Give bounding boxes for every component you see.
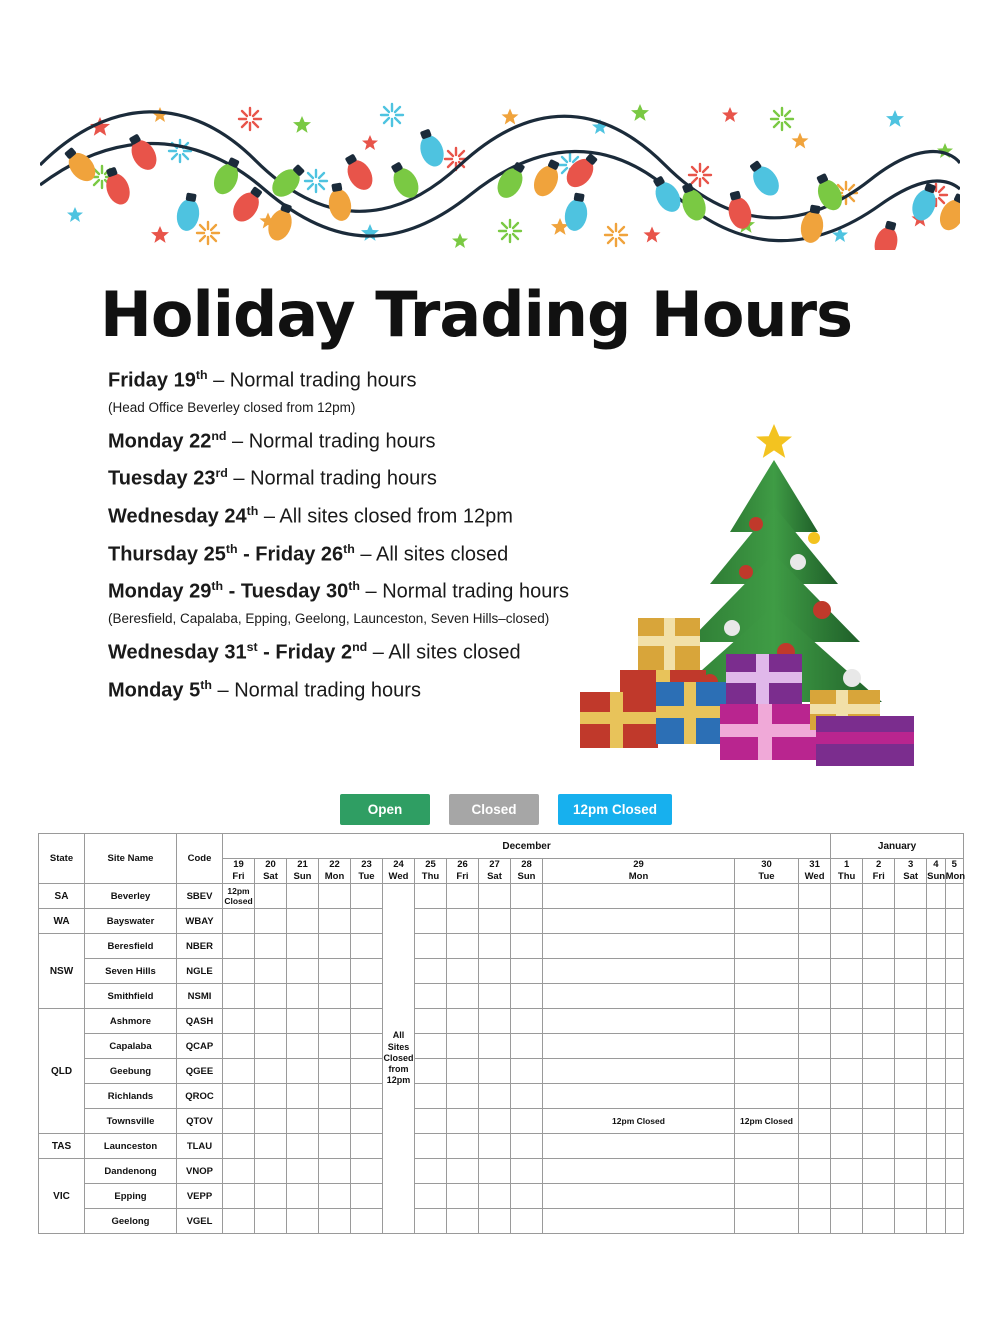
status-cell-closed: [415, 959, 447, 984]
status-cell-closed: [927, 909, 945, 934]
day-header-26-fri: 26Fri: [447, 859, 479, 884]
status-cell-closed: [255, 934, 287, 959]
day-header-31-wed: 31Wed: [799, 859, 831, 884]
status-cell-open: [351, 1109, 383, 1134]
day-header-23-tue: 23Tue: [351, 859, 383, 884]
status-cell-closed: [415, 1159, 447, 1184]
status-cell-closed: [479, 934, 511, 959]
status-cell-closed: [863, 1134, 895, 1159]
status-cell-closed: [895, 959, 927, 984]
status-cell-closed: [479, 984, 511, 1009]
notice-rest: – Normal trading hours: [208, 370, 417, 392]
legend-open: Open: [340, 794, 430, 825]
notice-sup-2: th: [348, 579, 360, 593]
status-cell-closed: [799, 1134, 831, 1159]
status-cell-open: [223, 934, 255, 959]
status-cell-closed: [927, 934, 945, 959]
legend-closed: Closed: [449, 794, 539, 825]
status-cell-closed: [479, 1034, 511, 1059]
site-name-cell: Beresfield: [85, 934, 177, 959]
day-weekday: Fri: [863, 871, 894, 883]
status-cell-closed: [927, 1009, 945, 1034]
status-cell-closed: [543, 1209, 735, 1234]
status-cell-open: [945, 934, 963, 959]
table-row: TownsvilleQTOV12pm Closed12pm Closed: [39, 1109, 964, 1134]
status-cell-open: [351, 1059, 383, 1084]
notice-sup: th: [247, 504, 259, 518]
day-number: 3: [895, 859, 926, 871]
day-number: 4: [927, 859, 944, 871]
status-cell-closed: [927, 1109, 945, 1134]
site-code-cell: VGEL: [177, 1209, 223, 1234]
day-weekday: Sat: [479, 871, 510, 883]
status-cell-closed: [415, 909, 447, 934]
status-cell-closed: [863, 1109, 895, 1134]
state-cell-wa: WA: [39, 909, 85, 934]
status-cell-closed: [287, 1134, 319, 1159]
notice-rest: – All sites closed: [367, 642, 520, 664]
status-cell-closed: [799, 1209, 831, 1234]
notice-bold: Monday 22: [108, 430, 211, 452]
status-cell-closed: [927, 984, 945, 1009]
status-cell-closed: [255, 1059, 287, 1084]
status-cell-closed: [287, 1109, 319, 1134]
status-cell-closed: [799, 1084, 831, 1109]
site-name-cell: Seven Hills: [85, 959, 177, 984]
status-cell-closed: [863, 1159, 895, 1184]
site-code-cell: SBEV: [177, 884, 223, 909]
status-cell-closed: [863, 934, 895, 959]
notice-sup: th: [226, 542, 238, 556]
status-cell-closed: [927, 1209, 945, 1234]
day-weekday: Sat: [255, 871, 286, 883]
status-cell-open: [351, 1134, 383, 1159]
status-cell-closed: [895, 1109, 927, 1134]
day-header-22-mon: 22Mon: [319, 859, 351, 884]
notice-sup: th: [196, 368, 208, 382]
day-number: 29: [543, 859, 734, 871]
status-cell-closed: [287, 1034, 319, 1059]
notice-bold: Monday 5: [108, 679, 200, 701]
status-cell-closed: [447, 1134, 479, 1159]
status-cell-closed: [255, 959, 287, 984]
status-cell-closed: [735, 959, 799, 984]
state-cell-nsw: NSW: [39, 934, 85, 1009]
status-cell-open: [319, 884, 351, 909]
site-code-cell: QASH: [177, 1009, 223, 1034]
day-weekday: Sun: [511, 871, 542, 883]
status-cell-closed: [447, 884, 479, 909]
status-cell-open: [319, 1209, 351, 1234]
status-cell-closed: [415, 1209, 447, 1234]
day-header-30-tue: 30Tue: [735, 859, 799, 884]
site-code-cell: NBER: [177, 934, 223, 959]
status-cell-closed: [447, 1059, 479, 1084]
christmas-tree-illustration: [560, 420, 960, 780]
status-cell-line: 12pm: [223, 886, 254, 896]
status-cell-closed: [863, 884, 895, 909]
status-cell-closed: [479, 909, 511, 934]
site-code-cell: NGLE: [177, 959, 223, 984]
status-cell-open: [223, 1184, 255, 1209]
status-cell-open: [945, 884, 963, 909]
day-number: 23: [351, 859, 382, 871]
notice-sup: st: [247, 640, 258, 654]
table-row: NSWBeresfieldNBER: [39, 934, 964, 959]
status-cell-closed: [895, 1084, 927, 1109]
status-cell-closed: [255, 1184, 287, 1209]
status-cell-open: [351, 1184, 383, 1209]
status-cell-closed: [831, 1134, 863, 1159]
status-cell-open: [351, 984, 383, 1009]
christmas-lights-banner: [40, 55, 960, 250]
day-weekday: Mon: [319, 871, 350, 883]
status-cell-closed: [863, 1084, 895, 1109]
status-cell-open: [223, 1109, 255, 1134]
day-number: 1: [831, 859, 862, 871]
status-cell-open: [945, 1059, 963, 1084]
status-cell-open: [223, 1134, 255, 1159]
status-cell-closed: [447, 1034, 479, 1059]
status-cell-closed: [863, 1034, 895, 1059]
status-cell-open: [351, 1159, 383, 1184]
status-cell-closed: [415, 934, 447, 959]
status-cell-closed: [415, 1034, 447, 1059]
status-cell-open: [945, 1084, 963, 1109]
day-header-1-thu: 1Thu: [831, 859, 863, 884]
status-cell-open: [735, 884, 799, 909]
header-code: Code: [177, 834, 223, 884]
status-cell-closed: [831, 909, 863, 934]
status-cell-closed: [447, 1084, 479, 1109]
status-cell-closed: [799, 909, 831, 934]
status-cell-closed: [255, 1034, 287, 1059]
status-cell-open: [351, 1034, 383, 1059]
status-cell-closed: [479, 1134, 511, 1159]
status-cell-closed: [895, 984, 927, 1009]
status-cell-closed: [415, 1134, 447, 1159]
status-cell-closed: [927, 884, 945, 909]
day-header-28-sun: 28Sun: [511, 859, 543, 884]
status-cell-closed: [927, 1184, 945, 1209]
status-cell-open: [543, 984, 735, 1009]
notice-rest: – All sites closed: [355, 543, 508, 565]
status-cell-closed: [895, 1134, 927, 1159]
status-cell-closed: [863, 959, 895, 984]
header-state: State: [39, 834, 85, 884]
status-cell-open: [319, 959, 351, 984]
status-cell-closed: [255, 1084, 287, 1109]
status-cell-closed: [895, 884, 927, 909]
status-cell-open: [223, 1034, 255, 1059]
status-cell-closed: [287, 1159, 319, 1184]
status-cell-open: [543, 1084, 735, 1109]
status-cell-open: [351, 959, 383, 984]
status-cell-closed: [895, 1184, 927, 1209]
table-row: RichlandsQROC: [39, 1084, 964, 1109]
day-number: 2: [863, 859, 894, 871]
notice-sup: nd: [211, 429, 226, 443]
month-december: December: [223, 834, 831, 859]
status-cell-open: [351, 1209, 383, 1234]
status-cell-closed: [511, 884, 543, 909]
table-row: Seven HillsNGLE: [39, 959, 964, 984]
status-cell-open: [735, 1159, 799, 1184]
trading-hours-table: State Site Name Code December January 19…: [38, 833, 964, 1234]
status-cell-closed: [831, 1009, 863, 1034]
day-number: 27: [479, 859, 510, 871]
status-cell-closed: [479, 1109, 511, 1134]
status-cell-closed: [895, 934, 927, 959]
status-cell-open: [223, 984, 255, 1009]
day-weekday: Sun: [927, 871, 944, 883]
status-cell-closed: [927, 1059, 945, 1084]
day-weekday: Thu: [415, 871, 446, 883]
status-cell-closed: [255, 1109, 287, 1134]
status-cell-12pm-closed: 12pmClosed: [223, 884, 255, 909]
table-row: QLDAshmoreQASH: [39, 1009, 964, 1034]
status-cell-closed: [511, 934, 543, 959]
status-cell-open: [945, 984, 963, 1009]
month-header-row: State Site Name Code December January: [39, 834, 964, 859]
status-cell-open: [351, 884, 383, 909]
status-cell-closed: [415, 1009, 447, 1034]
status-cell-closed: [415, 884, 447, 909]
status-cell-open: [223, 1209, 255, 1234]
site-code-cell: QCAP: [177, 1034, 223, 1059]
status-cell-closed: [831, 1034, 863, 1059]
all-sites-line: Closed: [383, 1053, 414, 1064]
notice-rest: – Normal trading hours: [227, 430, 436, 452]
status-cell-closed: [895, 1009, 927, 1034]
status-cell-closed: [511, 1209, 543, 1234]
notice-rest: – Normal trading hours: [228, 468, 437, 490]
status-cell-open: [223, 1009, 255, 1034]
status-cell-closed: [895, 909, 927, 934]
month-january: January: [831, 834, 964, 859]
notice-bold-2: - Tuesday 30: [223, 581, 348, 603]
status-cell-open: [319, 1059, 351, 1084]
status-cell-open: [223, 909, 255, 934]
status-cell-closed: [447, 984, 479, 1009]
status-cell-open: [543, 1009, 735, 1034]
day-number: 31: [799, 859, 830, 871]
status-cell-closed: [927, 1159, 945, 1184]
site-name-cell: Townsville: [85, 1109, 177, 1134]
day-weekday: Mon: [543, 871, 734, 883]
table-row: SmithfieldNSMI: [39, 984, 964, 1009]
state-cell-sa: SA: [39, 884, 85, 909]
status-cell-closed: [735, 1209, 799, 1234]
status-cell-closed: [479, 1184, 511, 1209]
status-cell-closed: [735, 1184, 799, 1209]
table-row: SABeverleySBEV12pmClosedAll SitesClosedf…: [39, 884, 964, 909]
status-cell-closed: [287, 1184, 319, 1209]
status-cell-closed: [543, 959, 735, 984]
status-cell-closed: [927, 959, 945, 984]
status-cell-open: [319, 1159, 351, 1184]
status-cell-closed: [479, 1159, 511, 1184]
status-cell-closed: [799, 984, 831, 1009]
notice-sub: (Head Office Beverley closed from 12pm): [108, 400, 748, 415]
status-cell-open: [319, 1134, 351, 1159]
status-cell-closed: [511, 1034, 543, 1059]
day-header-21-sun: 21Sun: [287, 859, 319, 884]
status-cell-closed: [831, 884, 863, 909]
notice-rest: – All sites closed from 12pm: [258, 506, 513, 528]
day-weekday: Sat: [895, 871, 926, 883]
table-row: GeelongVGEL: [39, 1209, 964, 1234]
day-header-2-fri: 2Fri: [863, 859, 895, 884]
day-number: 20: [255, 859, 286, 871]
status-cell-closed: [255, 884, 287, 909]
day-number: 30: [735, 859, 798, 871]
table-row: WABayswaterWBAY: [39, 909, 964, 934]
site-name-cell: Epping: [85, 1184, 177, 1209]
status-cell-closed: [831, 959, 863, 984]
site-code-cell: NSMI: [177, 984, 223, 1009]
all-sites-line: 12pm: [383, 1075, 414, 1086]
status-cell-open: [319, 1184, 351, 1209]
status-cell-closed: [447, 1209, 479, 1234]
day-number: 19: [223, 859, 254, 871]
status-cell-open: [351, 909, 383, 934]
status-cell-closed: [479, 1209, 511, 1234]
site-code-cell: QROC: [177, 1084, 223, 1109]
site-code-cell: QGEE: [177, 1059, 223, 1084]
status-cell-closed: [447, 1109, 479, 1134]
status-cell-closed: [831, 1184, 863, 1209]
status-cell-closed: [511, 959, 543, 984]
state-cell-vic: VIC: [39, 1159, 85, 1234]
notice-bold-2: - Friday 2: [258, 642, 352, 664]
status-cell-closed: [831, 1159, 863, 1184]
status-cell-closed: [831, 984, 863, 1009]
status-cell-open: [319, 934, 351, 959]
status-cell-open: [351, 1084, 383, 1109]
status-cell-open: [223, 959, 255, 984]
day-weekday: Sun: [287, 871, 318, 883]
status-cell-closed: [287, 934, 319, 959]
status-cell-closed: [927, 1034, 945, 1059]
bulb-group: [59, 127, 960, 250]
site-name-cell: Beverley: [85, 884, 177, 909]
status-cell-closed: [255, 1209, 287, 1234]
status-cell-closed: [447, 1159, 479, 1184]
status-cell-closed: [799, 884, 831, 909]
status-cell-closed: [863, 909, 895, 934]
status-cell-closed: [863, 1009, 895, 1034]
status-cell-closed: [511, 1009, 543, 1034]
status-cell-open: [735, 909, 799, 934]
status-cell-open: [735, 1009, 799, 1034]
status-cell-closed: [255, 1159, 287, 1184]
status-cell-closed: [415, 1109, 447, 1134]
status-cell-open: [319, 1009, 351, 1034]
status-cell-closed: [831, 934, 863, 959]
day-header-4-sun: 4Sun: [927, 859, 945, 884]
status-cell-open: [735, 1084, 799, 1109]
day-number: 21: [287, 859, 318, 871]
status-cell-open: [351, 1009, 383, 1034]
status-cell-closed: [479, 959, 511, 984]
site-code-cell: TLAU: [177, 1134, 223, 1159]
site-code-cell: VNOP: [177, 1159, 223, 1184]
notice-bold: Wednesday 31: [108, 642, 247, 664]
status-cell-open: [543, 909, 735, 934]
status-cell-closed: [831, 1084, 863, 1109]
status-cell-closed: [735, 1034, 799, 1059]
site-name-cell: Richlands: [85, 1084, 177, 1109]
status-cell-closed: [287, 884, 319, 909]
site-name-cell: Smithfield: [85, 984, 177, 1009]
status-cell-closed: [831, 1109, 863, 1134]
notice-bold-2: - Friday 26: [238, 543, 344, 565]
site-name-cell: Launceston: [85, 1134, 177, 1159]
status-cell-closed: [287, 984, 319, 1009]
status-cell-open: [319, 909, 351, 934]
status-cell-open: [945, 1009, 963, 1034]
table-row: CapalabaQCAP: [39, 1034, 964, 1059]
status-cell-closed: [511, 984, 543, 1009]
table-row: EppingVEPP: [39, 1184, 964, 1209]
status-cell-closed: [447, 934, 479, 959]
status-cell-closed: [511, 1084, 543, 1109]
status-cell-closed: [287, 909, 319, 934]
status-cell-open: [945, 1159, 963, 1184]
status-cell-closed: [255, 984, 287, 1009]
day-number: 22: [319, 859, 350, 871]
status-cell-closed: [799, 1159, 831, 1184]
status-cell-closed: [895, 1034, 927, 1059]
status-cell-closed: [895, 1059, 927, 1084]
day-weekday: Fri: [447, 871, 478, 883]
day-number: 28: [511, 859, 542, 871]
status-cell-closed: [479, 1009, 511, 1034]
all-sites-line: All Sites: [383, 1030, 414, 1053]
status-cell-closed: [543, 1134, 735, 1159]
notice-sup: th: [211, 579, 223, 593]
status-cell-closed: [863, 984, 895, 1009]
status-cell-open: [945, 1109, 963, 1134]
day-header-25-thu: 25Thu: [415, 859, 447, 884]
page-title: Holiday Trading Hours: [100, 278, 852, 351]
day-header-20-sat: 20Sat: [255, 859, 287, 884]
day-header-24-wed: 24Wed: [383, 859, 415, 884]
trading-hours-table-wrap: State Site Name Code December January 19…: [38, 833, 964, 1234]
status-cell-closed: [415, 1184, 447, 1209]
day-number: 5: [946, 859, 963, 871]
site-name-cell: Ashmore: [85, 1009, 177, 1034]
status-cell-closed: [447, 1009, 479, 1034]
status-cell-open: [945, 959, 963, 984]
status-cell-closed: [799, 934, 831, 959]
status-cell-closed: [447, 909, 479, 934]
status-cell-closed: [287, 1084, 319, 1109]
all-sites-line: from: [383, 1064, 414, 1075]
site-code-cell: VEPP: [177, 1184, 223, 1209]
status-cell-closed: [287, 1209, 319, 1234]
site-code-cell: WBAY: [177, 909, 223, 934]
status-cell-closed: [287, 1059, 319, 1084]
day-weekday: Wed: [383, 871, 414, 883]
status-cell-closed: [415, 984, 447, 1009]
status-cell-open: [223, 1084, 255, 1109]
day-number: 25: [415, 859, 446, 871]
day-header-3-sat: 3Sat: [895, 859, 927, 884]
day-weekday: Tue: [735, 871, 798, 883]
notice-rest: – Normal trading hours: [360, 581, 569, 603]
